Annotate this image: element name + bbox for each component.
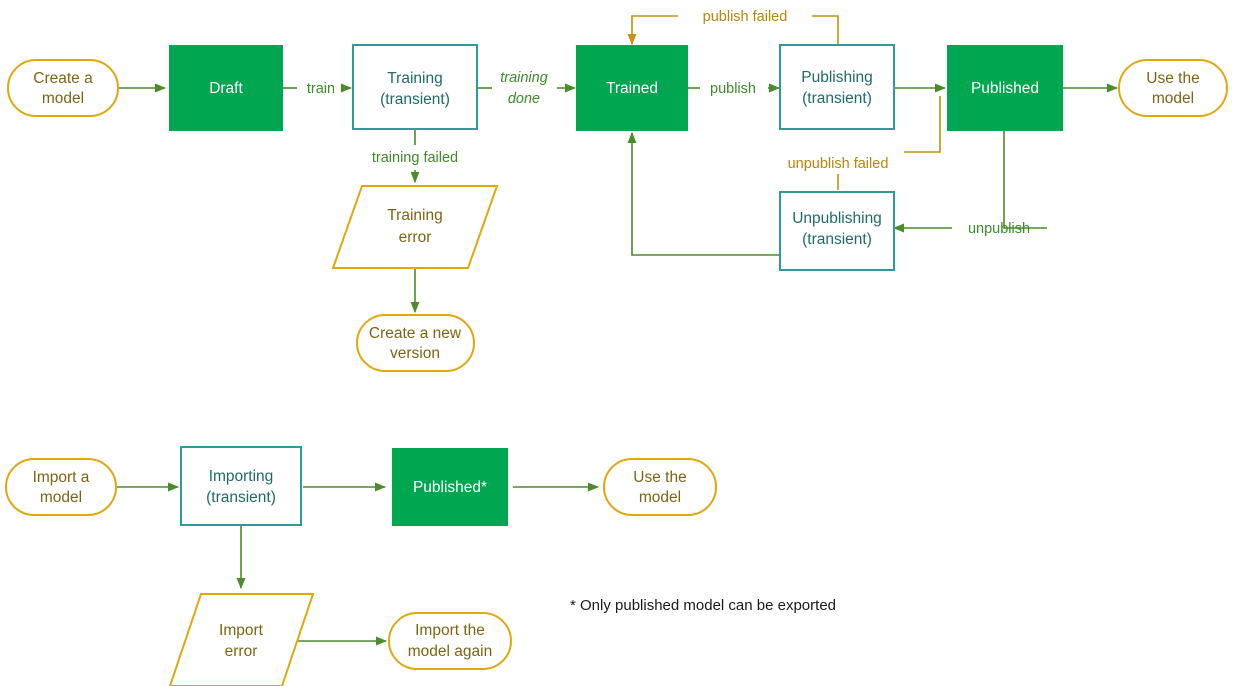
import-the-model-again-label-line2: model again xyxy=(408,643,492,660)
import-error-label-line1: Import xyxy=(219,622,264,639)
use-the-model-label-line1: Use the xyxy=(1146,70,1199,87)
edge-publish-failed-right xyxy=(812,16,838,44)
import-the-model-again-label-line1: Import the xyxy=(415,622,485,639)
training-error-shape xyxy=(333,186,497,268)
node-draft: Draft xyxy=(169,45,283,131)
node-trained: Trained xyxy=(576,45,688,131)
use-the-model-shape xyxy=(1119,60,1227,116)
edge-label-unpublish-failed: unpublish failed xyxy=(788,156,889,172)
flowchart-canvas: Create a model Draft Training (transient… xyxy=(0,0,1233,686)
import-error-label-line2: error xyxy=(225,643,258,660)
create-a-model-label-line2: model xyxy=(42,90,84,107)
create-a-new-version-label-line2: version xyxy=(390,345,440,362)
flowchart-diagram: Create a model Draft Training (transient… xyxy=(0,0,1233,686)
publishing-shape xyxy=(780,45,894,129)
node-importing: Importing (transient) xyxy=(181,447,301,525)
create-a-model-shape xyxy=(8,60,118,116)
create-a-model-label-line1: Create a xyxy=(33,70,93,87)
edge-unpublish-a xyxy=(1004,128,1047,228)
publishing-label-line1: Publishing xyxy=(801,69,873,86)
training-label-line2: (transient) xyxy=(380,91,450,108)
node-create-a-new-version: Create a new version xyxy=(357,315,474,371)
published-label: Published xyxy=(971,80,1039,97)
node-create-a-model: Create a model xyxy=(8,60,118,116)
importing-label-line1: Importing xyxy=(209,468,274,485)
use-the-model-2-shape xyxy=(604,459,716,515)
node-published: Published xyxy=(947,45,1063,131)
footnote-text: * Only published model can be exported xyxy=(570,597,836,614)
training-error-label-line2: error xyxy=(399,229,432,246)
create-a-new-version-label-line1: Create a new xyxy=(369,325,462,342)
use-the-model-label-line2: model xyxy=(1152,90,1194,107)
edge-label-publish: publish xyxy=(710,81,756,97)
draft-label: Draft xyxy=(209,80,243,97)
unpublishing-label-line2: (transient) xyxy=(802,231,872,248)
create-a-new-version-shape xyxy=(357,315,474,371)
publishing-label-line2: (transient) xyxy=(802,90,872,107)
training-label-line1: Training xyxy=(387,70,442,87)
use-the-model-2-label-line1: Use the xyxy=(633,469,686,486)
node-import-error: Import error xyxy=(170,594,313,686)
edge-unpublishing-to-trained xyxy=(632,133,779,255)
node-unpublishing: Unpublishing (transient) xyxy=(780,192,894,270)
use-the-model-2-label-line2: model xyxy=(639,489,681,506)
import-a-model-label-line2: model xyxy=(40,489,82,506)
node-import-the-model-again: Import the model again xyxy=(389,613,511,669)
node-import-a-model: Import a model xyxy=(6,459,116,515)
node-training: Training (transient) xyxy=(353,45,477,129)
edge-label-training-failed: training failed xyxy=(372,150,458,166)
import-a-model-label-line1: Import a xyxy=(33,469,90,486)
edge-unpublish-failed-right xyxy=(904,96,940,152)
importing-shape xyxy=(181,447,301,525)
importing-label-line2: (transient) xyxy=(206,489,276,506)
edge-label-training-done-line2: done xyxy=(508,91,540,107)
unpublishing-label-line1: Unpublishing xyxy=(792,210,882,227)
node-published-star: Published* xyxy=(392,448,508,526)
training-error-label-line1: Training xyxy=(387,207,442,224)
edge-label-publish-failed: publish failed xyxy=(703,9,788,25)
edge-label-training-done-line1: training xyxy=(500,70,548,86)
edge-publish-failed-left xyxy=(632,16,678,44)
edge-label-unpublish: unpublish xyxy=(968,221,1030,237)
published-star-label: Published* xyxy=(413,479,487,496)
import-a-model-shape xyxy=(6,459,116,515)
node-training-error: Training error xyxy=(333,186,497,268)
edge-label-train: train xyxy=(307,81,335,97)
node-use-the-model: Use the model xyxy=(1119,60,1227,116)
node-use-the-model-2: Use the model xyxy=(604,459,716,515)
import-error-shape xyxy=(170,594,313,686)
node-publishing: Publishing (transient) xyxy=(780,45,894,129)
trained-label: Trained xyxy=(606,80,658,97)
